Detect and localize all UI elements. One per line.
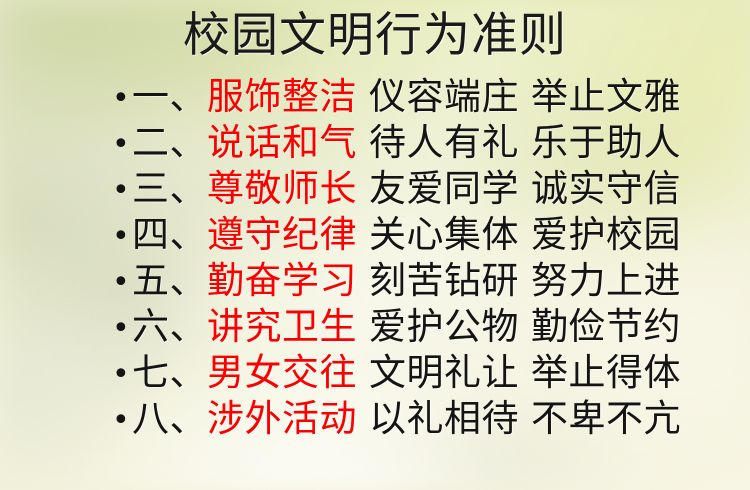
rule-index: 二、 [132, 121, 207, 164]
rule-phrase-a: 刻苦钻研 [369, 259, 519, 302]
bullet-icon: • [112, 306, 132, 352]
bullet-icon: • [112, 398, 132, 444]
bullet-icon: • [112, 122, 132, 168]
bullet-icon: • [112, 214, 132, 260]
rule-phrase-a: 文明礼让 [369, 351, 519, 394]
rule-item: •一、服饰整洁仪容端庄举止文雅 [112, 74, 672, 120]
rule-text: 八、涉外活动以礼相待不卑不亢 [132, 396, 681, 442]
rule-text: 六、讲究卫生爱护公物勤俭节约 [132, 304, 681, 350]
rule-phrase-b: 勤俭节约 [531, 305, 681, 348]
rule-item: •五、勤奋学习刻苦钻研努力上进 [112, 258, 672, 304]
rule-text: 二、说话和气待人有礼乐于助人 [132, 120, 681, 166]
rule-highlight: 涉外活动 [207, 397, 357, 440]
rule-index: 七、 [132, 351, 207, 394]
rule-highlight: 男女交往 [207, 351, 357, 394]
rule-phrase-a: 爱护公物 [369, 305, 519, 348]
rule-index: 六、 [132, 305, 207, 348]
rule-highlight: 说话和气 [207, 121, 357, 164]
rule-index: 八、 [132, 397, 207, 440]
rule-phrase-a: 以礼相待 [369, 397, 519, 440]
rule-item: •八、涉外活动以礼相待不卑不亢 [112, 396, 672, 442]
rules-list: •一、服饰整洁仪容端庄举止文雅•二、说话和气待人有礼乐于助人•三、尊敬师长友爱同… [112, 74, 672, 442]
rule-index: 三、 [132, 167, 207, 210]
rule-highlight: 遵守纪律 [207, 213, 357, 256]
rule-phrase-a: 关心集体 [369, 213, 519, 256]
bullet-icon: • [112, 352, 132, 398]
rule-phrase-b: 努力上进 [531, 259, 681, 302]
rule-index: 四、 [132, 213, 207, 256]
bullet-icon: • [112, 168, 132, 214]
rule-text: 三、尊敬师长友爱同学诚实守信 [132, 166, 681, 212]
rule-phrase-a: 待人有礼 [369, 121, 519, 164]
bullet-icon: • [112, 76, 132, 122]
rule-item: •四、遵守纪律关心集体爱护校园 [112, 212, 672, 258]
rule-item: •三、尊敬师长友爱同学诚实守信 [112, 166, 672, 212]
rule-highlight: 服饰整洁 [207, 75, 357, 118]
bullet-icon: • [112, 260, 132, 306]
rule-item: •六、讲究卫生爱护公物勤俭节约 [112, 304, 672, 350]
rule-phrase-b: 举止得体 [531, 351, 681, 394]
rule-highlight: 尊敬师长 [207, 167, 357, 210]
rule-item: •七、男女交往文明礼让举止得体 [112, 350, 672, 396]
slide-content: 校园文明行为准则 •一、服饰整洁仪容端庄举止文雅•二、说话和气待人有礼乐于助人•… [0, 0, 750, 490]
rule-item: •二、说话和气待人有礼乐于助人 [112, 120, 672, 166]
rule-phrase-b: 乐于助人 [531, 121, 681, 164]
rule-text: 一、服饰整洁仪容端庄举止文雅 [132, 74, 681, 120]
rule-highlight: 勤奋学习 [207, 259, 357, 302]
rule-highlight: 讲究卫生 [207, 305, 357, 348]
rule-phrase-b: 爱护校园 [531, 213, 681, 256]
rule-index: 五、 [132, 259, 207, 302]
rule-phrase-a: 仪容端庄 [369, 75, 519, 118]
rule-phrase-b: 不卑不亢 [531, 397, 681, 440]
rule-text: 四、遵守纪律关心集体爱护校园 [132, 212, 681, 258]
rule-index: 一、 [132, 75, 207, 118]
page-title: 校园文明行为准则 [0, 8, 750, 64]
rule-phrase-b: 举止文雅 [531, 75, 681, 118]
rule-phrase-b: 诚实守信 [531, 167, 681, 210]
rule-text: 七、男女交往文明礼让举止得体 [132, 350, 681, 396]
slide-canvas: 校园文明行为准则 •一、服饰整洁仪容端庄举止文雅•二、说话和气待人有礼乐于助人•… [0, 0, 750, 490]
rule-text: 五、勤奋学习刻苦钻研努力上进 [132, 258, 681, 304]
rule-phrase-a: 友爱同学 [369, 167, 519, 210]
